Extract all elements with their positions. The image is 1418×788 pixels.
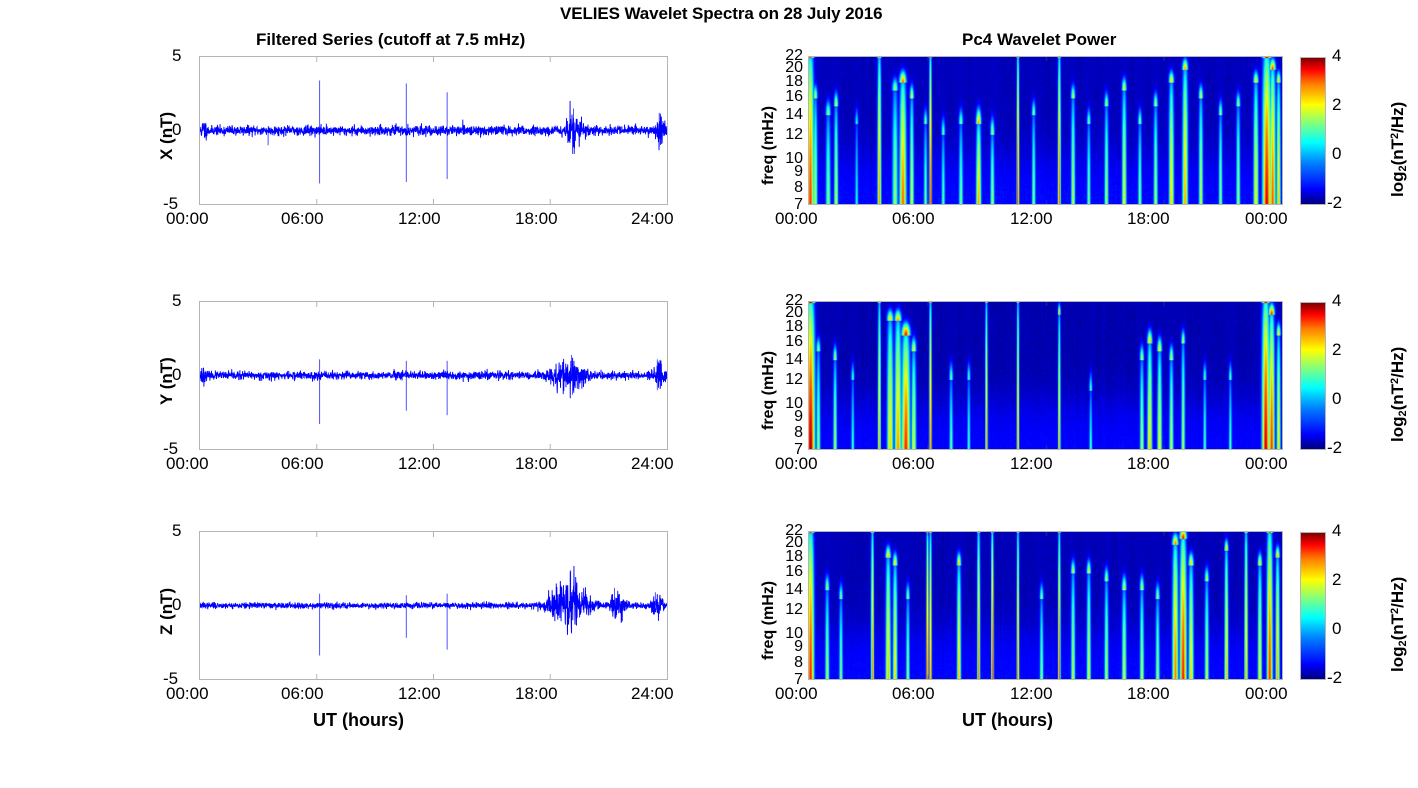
cbar-tick-2-z: 0: [1332, 619, 1341, 639]
ts-xtick-0-z: 00:00: [166, 684, 209, 704]
freq-ylabel-y: freq (mHz): [760, 351, 778, 430]
cbar-tick-1-x: 2: [1332, 95, 1341, 115]
freq-tick-14: 14: [785, 581, 803, 599]
right-column-title: Pc4 Wavelet Power: [962, 30, 1116, 50]
sp-xtick-0-y: 00:00: [775, 454, 818, 474]
cbar-log-sub-y: 2: [1397, 410, 1409, 416]
cbar-log-sub: 2: [1397, 165, 1409, 171]
freq-tick-8: 8: [794, 654, 803, 672]
cbar-mid-text: (nT: [1388, 139, 1407, 165]
cbar-log-sub-z: 2: [1397, 640, 1409, 646]
sp-xtick-2-y: 12:00: [1010, 454, 1053, 474]
ts-xtick-1-x: 06:00: [281, 209, 324, 229]
ts-ylabel-z: Z (nT): [157, 588, 177, 635]
cbar-suffix-text-y: /Hz): [1388, 347, 1407, 378]
ts-xtick-3-x: 18:00: [515, 209, 558, 229]
right-xlabel: UT (hours): [962, 710, 1053, 731]
colorbar-z[interactable]: [1300, 532, 1326, 680]
ts-ytick-top-y: 5: [172, 291, 181, 311]
freq-ylabel-z: freq (mHz): [760, 581, 778, 660]
figure-title: VELIES Wavelet Spectra on 28 July 2016: [560, 4, 883, 24]
cbar-log-text: log: [1388, 172, 1407, 198]
cbar-tick-3-x: -2: [1327, 193, 1342, 213]
cbar-suffix-text: /Hz): [1388, 102, 1407, 133]
cbar-tick-2-x: 0: [1332, 144, 1341, 164]
ts-xtick-0-x: 00:00: [166, 209, 209, 229]
sp-xtick-4-x: 00:00: [1245, 209, 1288, 229]
ts-ylabel-x: X (nT): [157, 112, 177, 160]
cbar-mid-text-z: (nT: [1388, 614, 1407, 640]
cbar-mid-text-y: (nT: [1388, 384, 1407, 410]
freq-tick-16: 16: [785, 88, 803, 106]
ts-ytick-top-x: 5: [172, 46, 181, 66]
ts-xtick-2-z: 12:00: [398, 684, 441, 704]
cbar-tick-1-y: 2: [1332, 340, 1341, 360]
ts-xtick-1-z: 06:00: [281, 684, 324, 704]
spectrogram-canvas-z: [809, 532, 1282, 679]
freq-tick-12: 12: [785, 371, 803, 389]
freq-tick-8: 8: [794, 179, 803, 197]
cbar-unit-sup: 2: [1389, 133, 1401, 139]
spectrogram-panel-x[interactable]: [808, 56, 1283, 205]
colorbar-label-z: log2(nT2/Hz): [1388, 577, 1409, 672]
timeseries-plot-x: [200, 57, 667, 204]
colorbar-label-x: log2(nT2/Hz): [1388, 102, 1409, 197]
cbar-suffix-text-z: /Hz): [1388, 577, 1407, 608]
sp-xtick-1-y: 06:00: [892, 454, 935, 474]
sp-xtick-0-z: 00:00: [775, 684, 818, 704]
freq-tick-16: 16: [785, 333, 803, 351]
ts-xtick-4-x: 24:00: [631, 209, 674, 229]
sp-xtick-2-z: 12:00: [1010, 684, 1053, 704]
ts-xtick-2-x: 12:00: [398, 209, 441, 229]
spectrogram-canvas-x: [809, 57, 1282, 204]
sp-xtick-1-x: 06:00: [892, 209, 935, 229]
timeseries-panel-x[interactable]: [199, 56, 668, 205]
ts-xtick-0-y: 00:00: [166, 454, 209, 474]
ts-xtick-2-y: 12:00: [398, 454, 441, 474]
cbar-tick-0-y: 4: [1332, 291, 1341, 311]
sp-xtick-2-x: 12:00: [1010, 209, 1053, 229]
ts-ytick-top-z: 5: [172, 521, 181, 541]
freq-tick-12: 12: [785, 601, 803, 619]
timeseries-plot-z: [200, 532, 667, 679]
spectrogram-panel-z[interactable]: [808, 531, 1283, 680]
cbar-unit-sup-z: 2: [1389, 608, 1401, 614]
ts-xtick-3-y: 18:00: [515, 454, 558, 474]
spectrogram-canvas-y: [809, 302, 1282, 449]
sp-xtick-3-x: 18:00: [1127, 209, 1170, 229]
ts-xtick-4-y: 24:00: [631, 454, 674, 474]
freq-tick-12: 12: [785, 126, 803, 144]
cbar-tick-0-z: 4: [1332, 521, 1341, 541]
ts-ylabel-y: Y (nT): [157, 357, 177, 405]
cbar-tick-0-x: 4: [1332, 46, 1341, 66]
sp-xtick-4-y: 00:00: [1245, 454, 1288, 474]
timeseries-panel-y[interactable]: [199, 301, 668, 450]
freq-tick-14: 14: [785, 106, 803, 124]
cbar-unit-sup-y: 2: [1389, 378, 1401, 384]
freq-tick-16: 16: [785, 563, 803, 581]
sp-xtick-1-z: 06:00: [892, 684, 935, 704]
left-column-title: Filtered Series (cutoff at 7.5 mHz): [256, 30, 525, 50]
left-xlabel: UT (hours): [313, 710, 404, 731]
timeseries-plot-y: [200, 302, 667, 449]
freq-tick-8: 8: [794, 424, 803, 442]
ts-xtick-1-y: 06:00: [281, 454, 324, 474]
colorbar-x[interactable]: [1300, 57, 1326, 205]
cbar-log-text-z: log: [1388, 647, 1407, 673]
freq-tick-14: 14: [785, 351, 803, 369]
colorbar-y[interactable]: [1300, 302, 1326, 450]
cbar-tick-1-z: 2: [1332, 570, 1341, 590]
sp-xtick-3-y: 18:00: [1127, 454, 1170, 474]
spectrogram-panel-y[interactable]: [808, 301, 1283, 450]
cbar-tick-2-y: 0: [1332, 389, 1341, 409]
colorbar-label-y: log2(nT2/Hz): [1388, 347, 1409, 442]
timeseries-panel-z[interactable]: [199, 531, 668, 680]
figure-canvas: VELIES Wavelet Spectra on 28 July 2016 F…: [0, 0, 1418, 788]
cbar-tick-3-y: -2: [1327, 438, 1342, 458]
cbar-tick-3-z: -2: [1327, 668, 1342, 688]
freq-ylabel-x: freq (mHz): [760, 106, 778, 185]
cbar-log-text-y: log: [1388, 417, 1407, 443]
sp-xtick-0-x: 00:00: [775, 209, 818, 229]
ts-xtick-3-z: 18:00: [515, 684, 558, 704]
sp-xtick-4-z: 00:00: [1245, 684, 1288, 704]
sp-xtick-3-z: 18:00: [1127, 684, 1170, 704]
ts-xtick-4-z: 24:00: [631, 684, 674, 704]
